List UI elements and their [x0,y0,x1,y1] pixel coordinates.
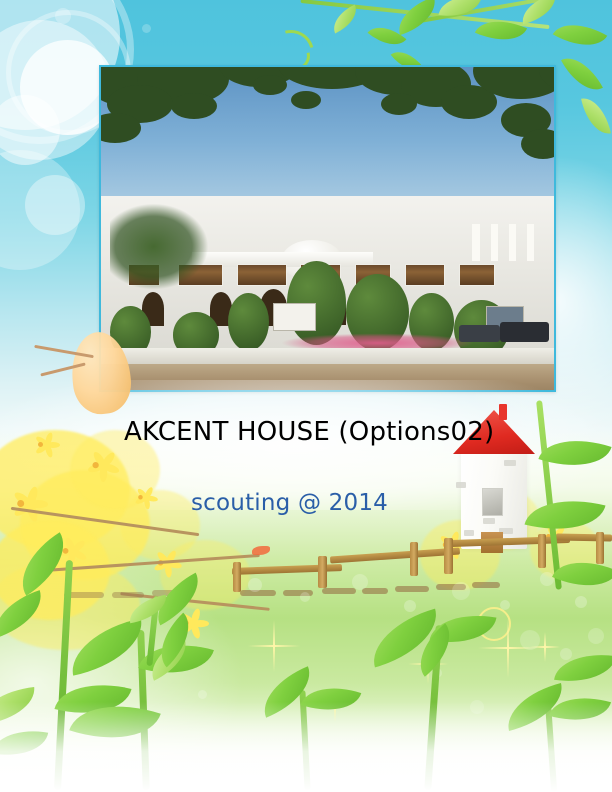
photo-signboard [273,303,316,331]
cottage-chimney [499,404,507,420]
sparkle [248,620,300,672]
slide-page: AKCENT HOUSE (Options02) scouting @ 2014 [0,0,612,792]
photo-car [500,322,550,341]
page-title: AKCENT HOUSE (Options02) [124,417,494,447]
cottage-window [482,488,503,516]
bokeh-dot [55,8,71,24]
bottom-white-fade [0,702,612,792]
bokeh-dot [142,24,151,33]
photo-akcent-house [99,65,556,392]
photo-car [459,325,500,341]
photo-palm-tree [110,203,219,313]
photo-tree-canopy [101,67,554,196]
page-subtitle: scouting @ 2014 [191,490,388,516]
